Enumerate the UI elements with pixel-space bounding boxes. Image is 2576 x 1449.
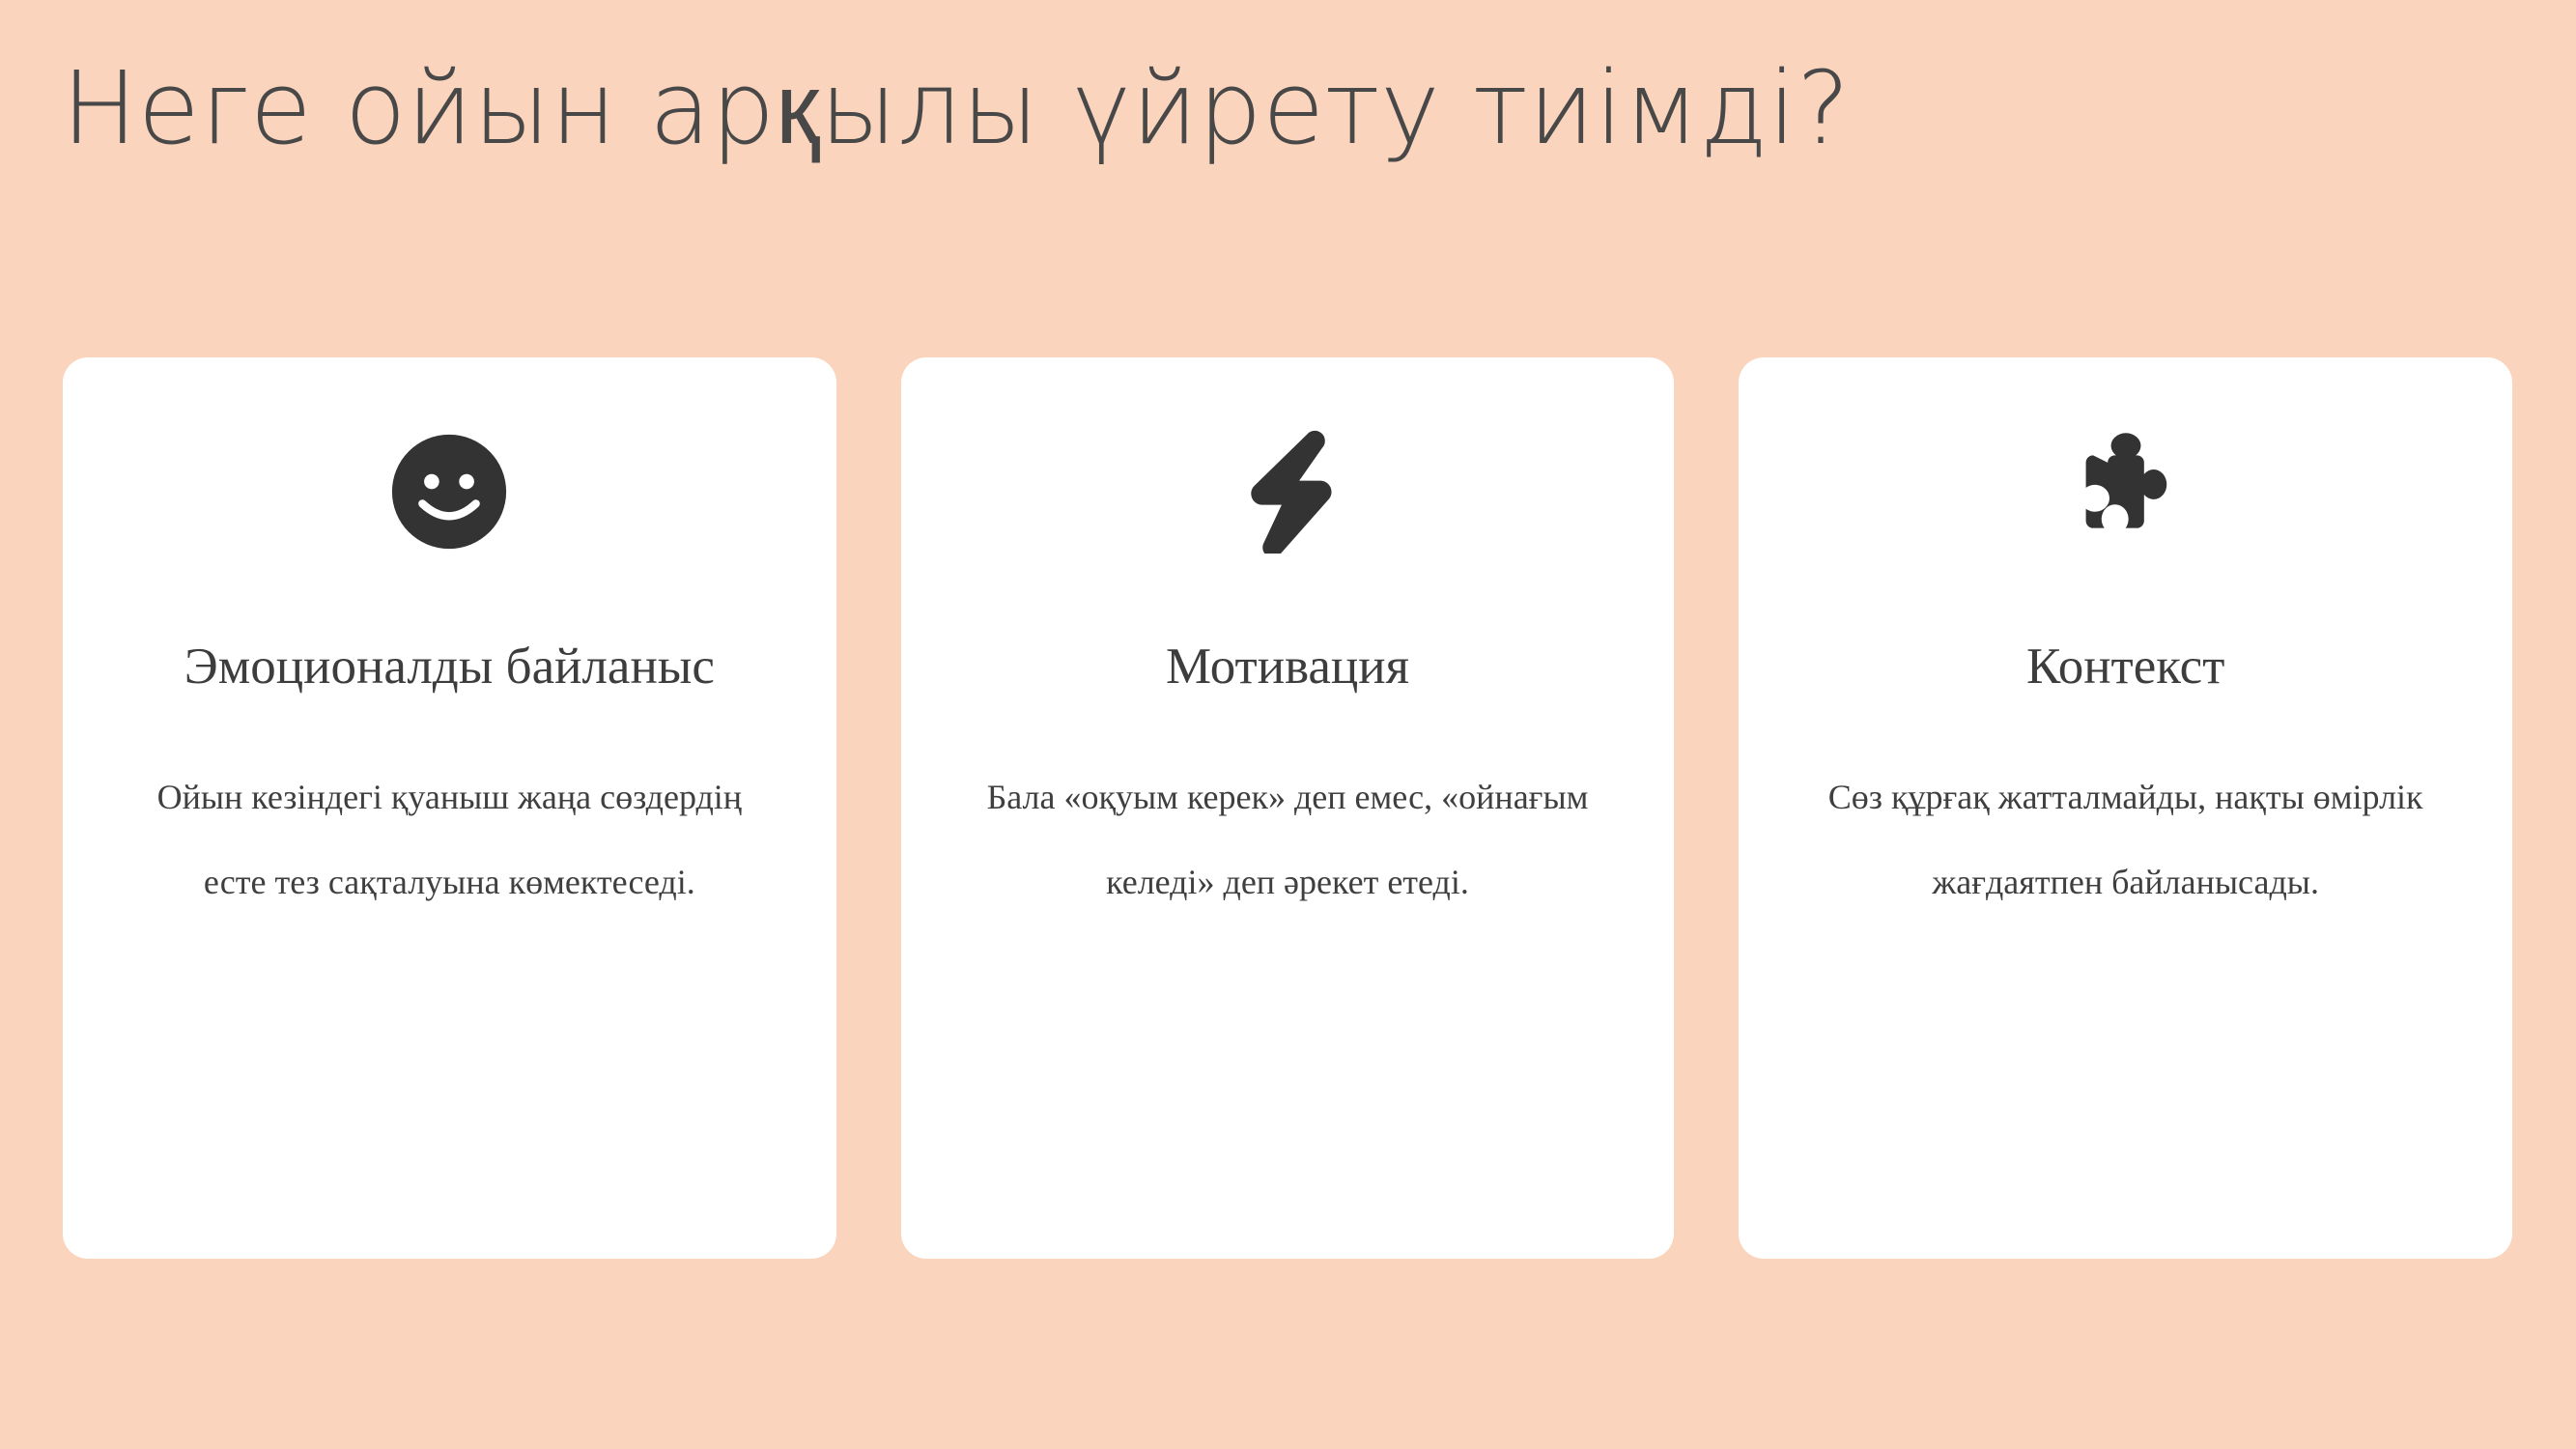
- feature-card-body: Ойын кезіндегі қуаныш жаңа сөздердің ест…: [135, 754, 763, 924]
- feature-card-title: Эмоционалды байланыс: [184, 634, 715, 700]
- puzzle-piece-icon: [2063, 429, 2189, 554]
- lightning-bolt-icon: [1225, 429, 1350, 554]
- smiley-face-icon: [386, 429, 512, 554]
- feature-card-body: Сөз құрғақ жатталмайды, нақты өмірлік жа…: [1812, 754, 2440, 924]
- page-title: Неге ойын арқылы үйрету тиімді?: [62, 46, 2380, 171]
- feature-card-title: Мотивация: [1166, 634, 1409, 700]
- feature-card: Эмоционалды байланыс Ойын кезіндегі қуан…: [63, 357, 836, 1259]
- feature-card: Мотивация Бала «оқуым керек» деп емес, «…: [901, 357, 1675, 1259]
- feature-card-body: Бала «оқуым керек» деп емес, «ойнағым ке…: [974, 754, 1601, 924]
- feature-card-title: Контекст: [2026, 634, 2224, 700]
- feature-card-row: Эмоционалды байланыс Ойын кезіндегі қуан…: [63, 357, 2512, 1259]
- feature-card: Контекст Сөз құрғақ жатталмайды, нақты ө…: [1739, 357, 2512, 1259]
- slide-root: Неге ойын арқылы үйрету тиімді? Эмоциона…: [0, 0, 2576, 1449]
